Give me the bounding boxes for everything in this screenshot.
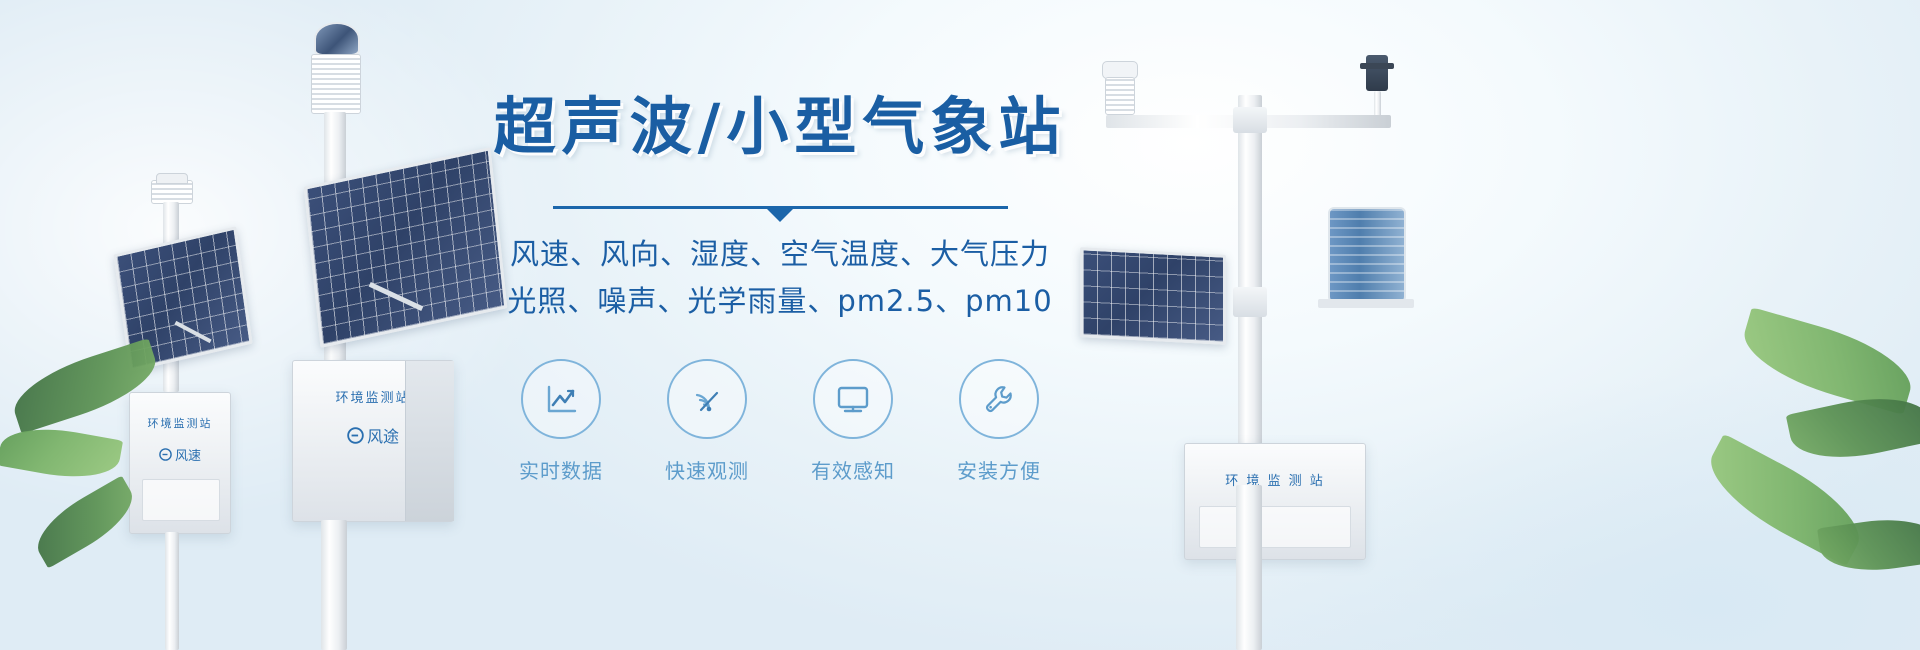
banner-text-block: 超声波/小型气象站 风速、风向、湿度、空气温度、大气压力 光照、噪声、光学雨量、…: [430, 96, 1130, 566]
divider-triangle-icon: [767, 209, 793, 222]
headline-divider: [553, 206, 1008, 209]
feature-list: 实时数据 快速观测: [430, 359, 1130, 484]
feature-icon-circle: [667, 359, 747, 439]
feature-label-fast-observation: 快速观测: [659, 455, 755, 484]
feature-item-fast-observation[interactable]: 快速观测: [659, 359, 755, 484]
brand-text-left: 风速: [175, 445, 201, 464]
radiation-shield-center: [311, 54, 361, 114]
mast-collar-mid: [1233, 287, 1267, 317]
wind-vane-icon: [1366, 55, 1388, 91]
feature-label-easy-install: 安装方便: [951, 455, 1047, 484]
cabinet-tag-left: 环境监测站: [148, 415, 213, 431]
weather-station-left: 环境监测站 风速: [95, 180, 285, 650]
brand-logo-center: 风途: [347, 423, 399, 447]
banner-headline: 超声波/小型气象站: [430, 96, 1130, 158]
feature-icon-circle: [521, 359, 601, 439]
base-pole-center: [321, 520, 347, 650]
feature-label-realtime-data: 实时数据: [513, 455, 609, 484]
feature-item-easy-install[interactable]: 安装方便: [951, 359, 1047, 484]
mast-collar-top: [1233, 107, 1267, 133]
dome-sensor-icon: [314, 22, 360, 56]
rain-gauge-icon: [1328, 207, 1406, 303]
cabinet-vent-right: [1199, 506, 1351, 548]
line-chart-icon: [541, 379, 581, 419]
monitor-icon: [832, 378, 874, 420]
wrench-icon: [978, 378, 1020, 420]
base-pole-left: [165, 532, 179, 650]
feature-item-effective-sensing[interactable]: 有效感知: [805, 359, 901, 484]
feature-item-realtime-data[interactable]: 实时数据: [513, 359, 609, 484]
feature-label-effective-sensing: 有效感知: [805, 455, 901, 484]
cabinet-tag-center: 环境监测站: [335, 387, 410, 406]
feature-icon-circle: [959, 359, 1039, 439]
feature-icon-circle: [813, 359, 893, 439]
subline-2: 光照、噪声、光学雨量、pm2.5、pm10: [430, 278, 1130, 325]
cabinet-door-left: [142, 479, 220, 521]
brand-logo-left: 风速: [159, 445, 201, 464]
base-pole-right: [1236, 485, 1262, 650]
product-banner: 环境监测站 风速 环境监测站 风途: [0, 0, 1920, 650]
brand-text-center: 风途: [367, 423, 399, 447]
rain-gauge-shelf: [1318, 299, 1414, 308]
cabinet-left: 环境监测站 风速: [129, 392, 231, 534]
brand-mark-icon: [159, 448, 172, 461]
banner-sublines: 风速、风向、湿度、空气温度、大气压力 光照、噪声、光学雨量、pm2.5、pm10: [430, 231, 1130, 325]
sensor-cap-left: [156, 173, 188, 184]
cabinet-right: 环 境 监 测 站: [1184, 443, 1366, 560]
wind-vane-fin-icon: [1360, 63, 1394, 69]
radar-signal-icon: [687, 379, 727, 419]
subline-1: 风速、风向、湿度、空气温度、大气压力: [430, 231, 1130, 278]
brand-mark-icon: [347, 427, 364, 444]
